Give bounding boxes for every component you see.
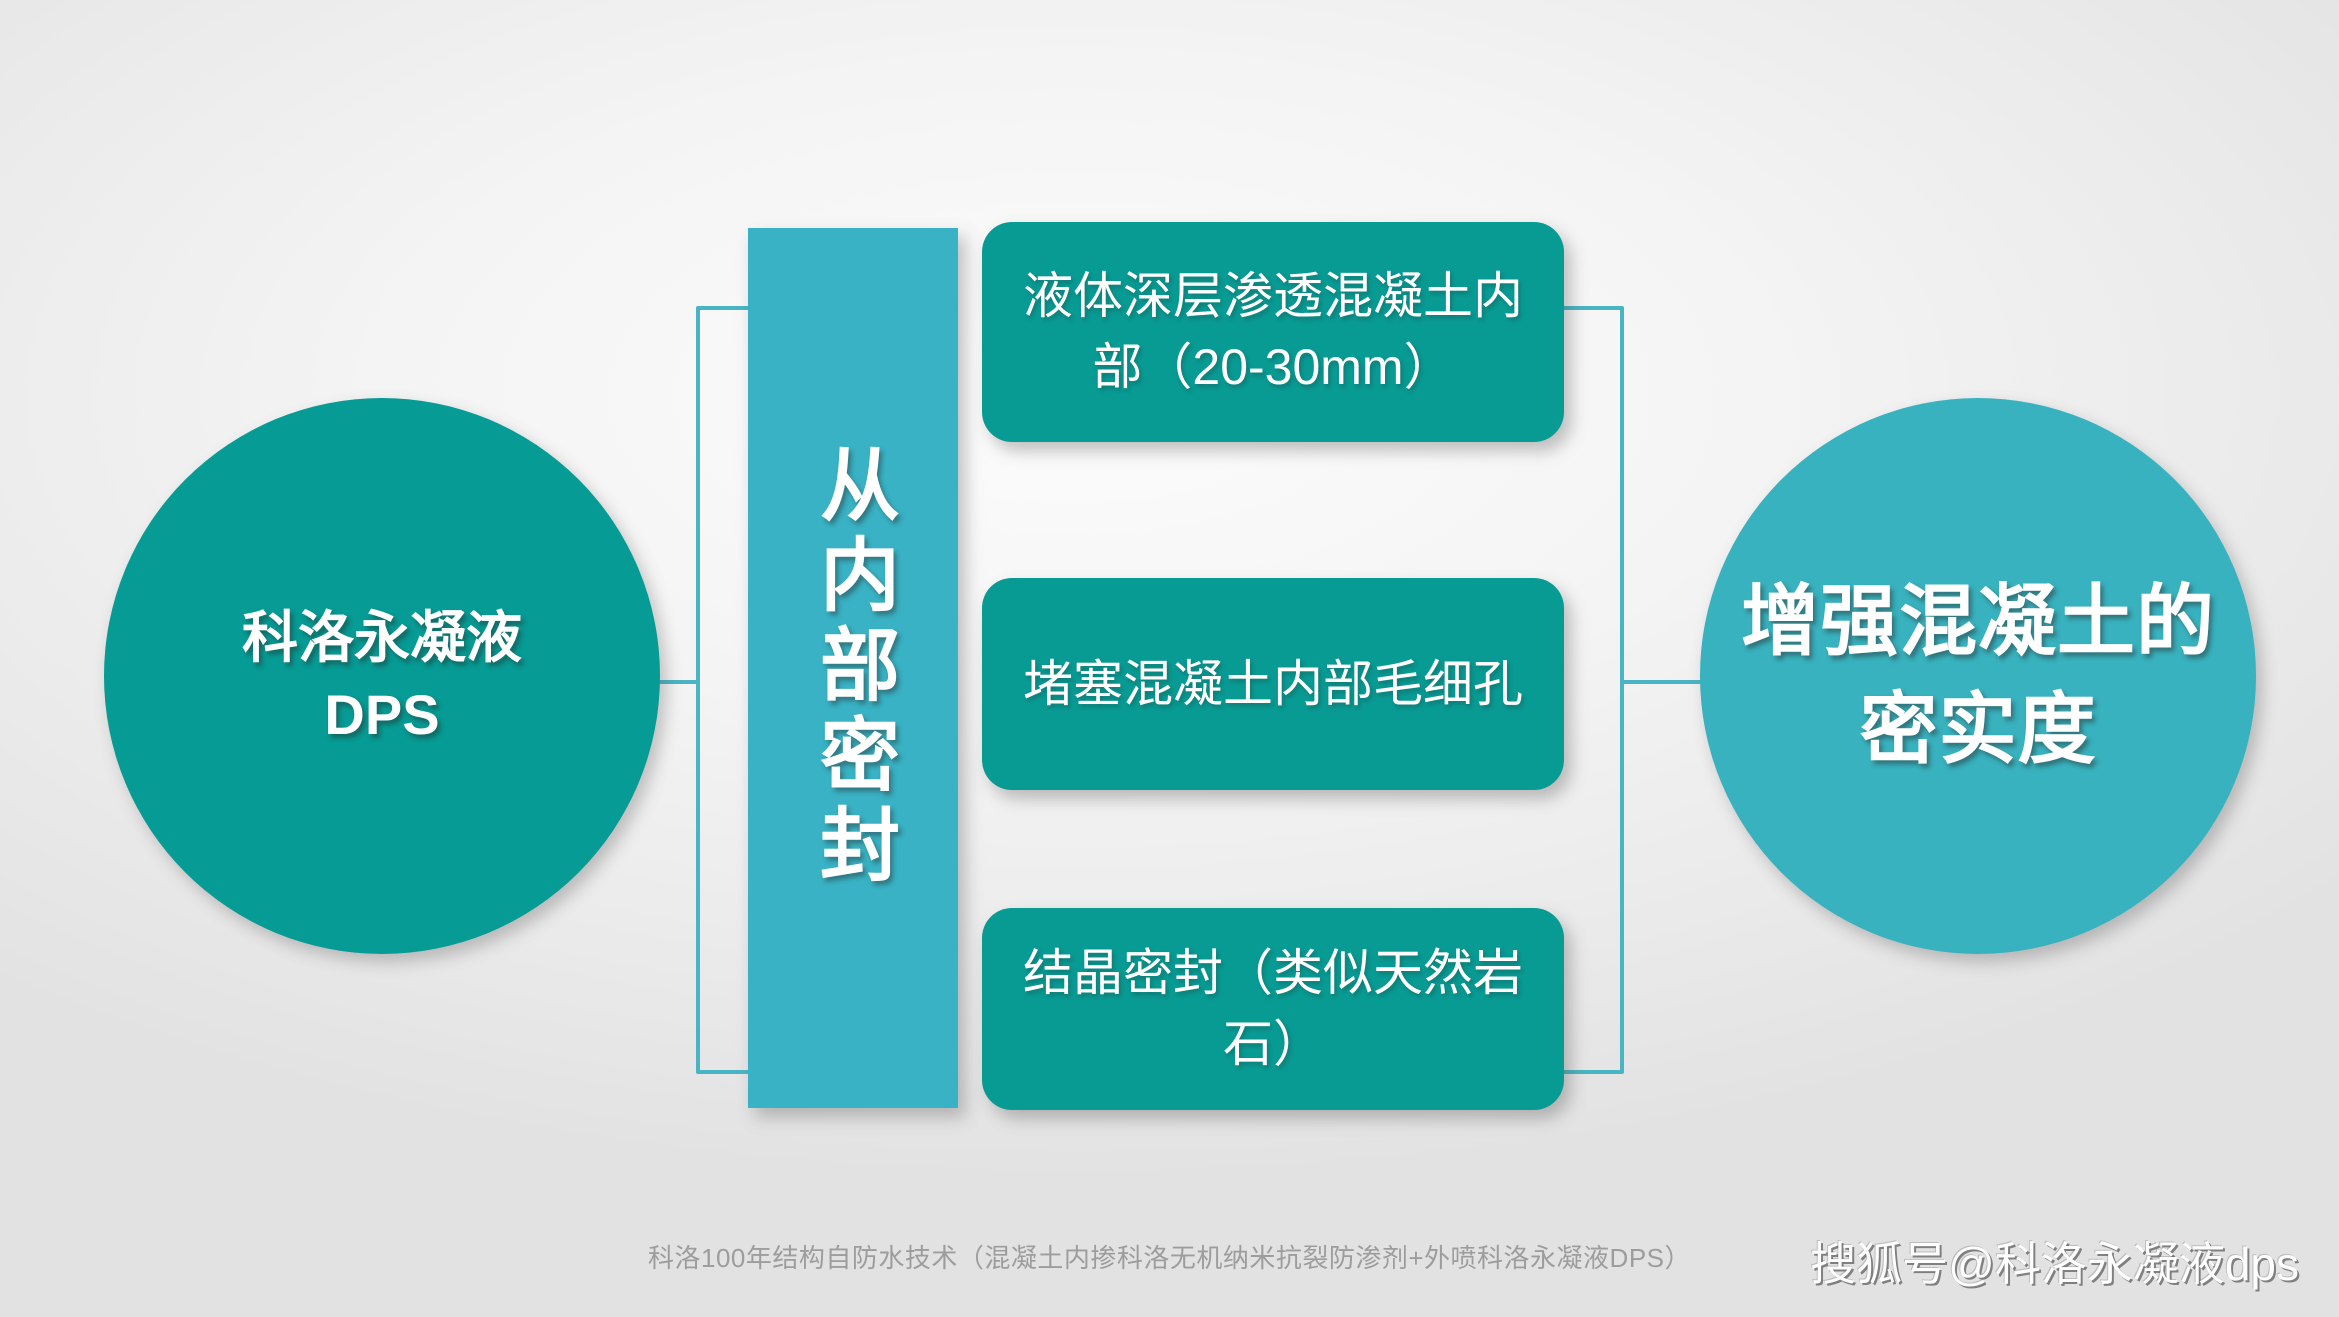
source-node-label-line1: 科洛永凝液 <box>144 599 620 676</box>
diagram-slide: 科洛永凝液 DPS 从内部密封 液体深层渗透混凝土内部（20-30mm） 堵塞混… <box>0 0 2339 1317</box>
right-bracket-connector <box>1560 300 1710 1080</box>
source-node-label: 科洛永凝液 DPS <box>104 599 660 754</box>
mechanism-bar[interactable]: 从内部密封 <box>748 228 958 1108</box>
mechanism-bar-label: 从内部密封 <box>813 443 893 893</box>
result-node-circle[interactable]: 增强混凝土的密实度 <box>1700 398 2256 954</box>
step-box-label: 结晶密封（类似天然岩石） <box>1004 938 1542 1080</box>
left-bracket-connector <box>650 300 760 1080</box>
watermark-label: 搜狐号@科洛永凝液dps <box>1810 1228 2299 1294</box>
step-box[interactable]: 堵塞混凝土内部毛细孔 <box>982 578 1564 790</box>
step-box[interactable]: 结晶密封（类似天然岩石） <box>982 908 1564 1110</box>
step-box[interactable]: 液体深层渗透混凝土内部（20-30mm） <box>982 222 1564 442</box>
step-box-label: 液体深层渗透混凝土内部（20-30mm） <box>1004 261 1542 403</box>
source-node-circle[interactable]: 科洛永凝液 DPS <box>104 398 660 954</box>
step-box-label: 堵塞混凝土内部毛细孔 <box>1023 649 1523 720</box>
source-node-label-line2: DPS <box>144 676 620 753</box>
result-node-label: 增强混凝土的密实度 <box>1700 568 2256 783</box>
